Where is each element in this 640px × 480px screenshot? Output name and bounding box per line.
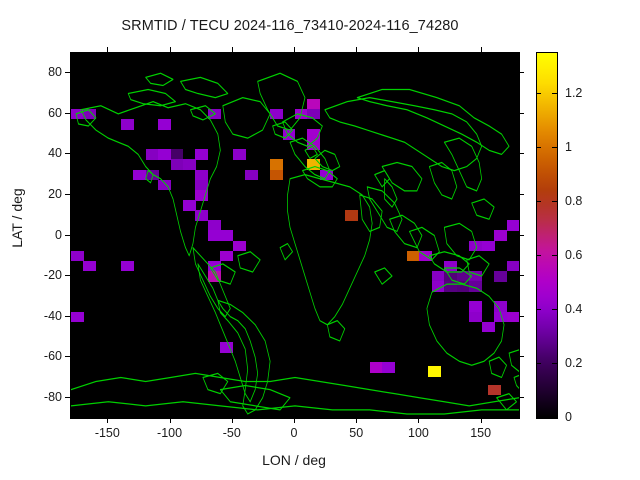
heatmap-cell [469,301,482,312]
heatmap-cell [270,159,283,170]
colorbar-tick-label: 0.6 [565,248,582,262]
colorbar-tick-mark [552,255,557,256]
chart-root: SRMTID / TECU 2024-116_73410-2024-116_74… [0,0,640,480]
x-tick-label: 150 [470,426,491,440]
colorbar-tick-label: 1.2 [565,86,582,100]
heatmap-cell [208,230,221,241]
heatmap-cell [270,109,283,120]
heatmap-cell [83,261,96,272]
colorbar-tick-mark [552,309,557,310]
heatmap-cell [469,271,482,282]
heatmap-cell [382,362,395,373]
y-tick-label: 0 [22,228,62,242]
heatmap-cell [171,149,184,160]
x-tick-mark [481,47,482,52]
colorbar-tick-mark [552,93,557,94]
heatmap-cell [171,159,184,170]
heatmap-cell [307,129,320,140]
heatmap-cell [488,385,501,396]
x-tick-mark [107,47,108,52]
y-tick-mark [65,113,70,114]
heatmap-cell [469,312,482,323]
heatmap-cell [419,251,432,262]
heatmap-cell [370,362,383,373]
y-tick-mark [519,397,524,398]
heatmap-cell [146,170,159,181]
x-tick-label: -100 [157,426,182,440]
heatmap-cell [444,271,457,282]
chart-title: SRMTID / TECU 2024-116_73410-2024-116_74… [0,18,580,34]
x-axis-title: LON / deg [70,452,518,468]
x-tick-label: 0 [291,426,298,440]
heatmap-cell [158,149,171,160]
colorbar-tick-mark [536,93,541,94]
colorbar-tick-label: 0.4 [565,302,582,316]
heatmap-cell [121,119,134,130]
heatmap-cell [457,281,470,292]
y-tick-mark [519,194,524,195]
colorbar-tick-label: 0 [565,410,572,424]
colorbar-tick-mark [536,147,541,148]
heatmap-cell [507,312,520,323]
x-tick-label: -50 [223,426,241,440]
y-tick-mark [519,316,524,317]
heatmap-cell [320,170,333,181]
heatmap-cell [208,261,221,272]
colorbar-tick-label: 0.2 [565,356,582,370]
y-tick-mark [65,194,70,195]
x-tick-label: 100 [408,426,429,440]
heatmap-cell [146,149,159,160]
y-axis-title: LAT / deg [9,148,25,288]
heatmap-cell [494,230,507,241]
heatmap-cell [428,366,441,377]
plot-area [70,52,520,419]
y-tick-label: -40 [22,309,62,323]
colorbar-tick-mark [552,147,557,148]
y-tick-mark [519,275,524,276]
y-tick-mark [519,72,524,73]
x-tick-label: 50 [349,426,363,440]
x-tick-mark [170,418,171,423]
y-tick-label: 80 [22,65,62,79]
heatmap-cell [208,271,221,282]
heatmap-cell [494,312,507,323]
colorbar-tick-mark [536,255,541,256]
x-tick-mark [232,47,233,52]
x-tick-mark [232,418,233,423]
heatmap-cell [183,200,196,211]
heatmap-cell [220,230,233,241]
x-tick-mark [107,418,108,423]
heatmap-cell [507,261,520,272]
heatmap-cell [133,170,146,181]
heatmap-cell [158,119,171,130]
heatmap-cell [195,210,208,221]
y-tick-mark [519,356,524,357]
y-tick-label: 20 [22,187,62,201]
colorbar [536,52,558,419]
heatmap-cell [345,210,358,221]
heatmap-cell [469,241,482,252]
heatmap-cell [507,220,520,231]
heatmap-cell [158,180,171,191]
heatmap-cell [208,109,221,120]
x-tick-mark [356,418,357,423]
y-tick-mark [65,356,70,357]
y-tick-mark [65,72,70,73]
y-tick-mark [65,397,70,398]
heatmap-cell [233,149,246,160]
heatmap-cell [482,241,495,252]
heatmap-cell [407,251,420,262]
heatmap-cell [71,109,84,120]
colorbar-tick-label: 0.8 [565,194,582,208]
heatmap-cell [195,190,208,201]
heatmap-cell [195,170,208,181]
heatmap-cell [307,99,320,110]
y-tick-label: -60 [22,349,62,363]
heatmap-cell [432,271,445,282]
x-tick-mark [418,47,419,52]
y-tick-mark [65,235,70,236]
heatmap-cell [444,261,457,272]
heatmap-cell [307,109,320,120]
heatmap-cell [482,322,495,333]
heatmap-cell [71,251,84,262]
y-tick-mark [519,113,524,114]
heatmap-cell [71,312,84,323]
heatmap-cell [457,271,470,282]
heatmap-cell [432,281,445,292]
y-tick-mark [65,153,70,154]
y-tick-mark [65,316,70,317]
y-tick-mark [65,275,70,276]
heatmap-cell [245,170,258,181]
heatmap-cell [307,139,320,150]
colorbar-tick-mark [536,363,541,364]
y-tick-label: 60 [22,106,62,120]
heatmap-cell [220,342,233,353]
heatmap-cell [83,109,96,120]
colorbar-tick-mark [536,417,541,418]
heatmap-cell [295,109,308,120]
heatmap-cell [283,129,296,140]
heatmap-cell [208,220,221,231]
colorbar-tick-mark [552,363,557,364]
y-tick-label: -20 [22,268,62,282]
colorbar-tick-mark [552,417,557,418]
x-tick-mark [356,47,357,52]
y-tick-mark [519,153,524,154]
colorbar-tick-mark [536,201,541,202]
x-tick-mark [294,47,295,52]
y-tick-mark [519,235,524,236]
y-tick-label: 40 [22,146,62,160]
colorbar-tick-mark [552,201,557,202]
x-tick-label: -150 [95,426,120,440]
heatmap-cell [270,170,283,181]
colorbar-tick-label: 1 [565,140,572,154]
heatmap-cell [220,251,233,262]
heatmap-cell [195,180,208,191]
heatmap-cell [307,159,320,170]
heatmap-cell [121,261,134,272]
heatmap-cells [71,53,519,418]
heatmap-cell [195,149,208,160]
heatmap-cell [233,241,246,252]
heatmap-cell [444,281,457,292]
y-tick-label: -80 [22,390,62,404]
x-tick-mark [481,418,482,423]
x-tick-mark [170,47,171,52]
x-tick-mark [418,418,419,423]
heatmap-cell [494,301,507,312]
heatmap-cell [183,159,196,170]
heatmap-cell [469,281,482,292]
heatmap-cell [494,271,507,282]
colorbar-tick-mark [536,309,541,310]
x-tick-mark [294,418,295,423]
